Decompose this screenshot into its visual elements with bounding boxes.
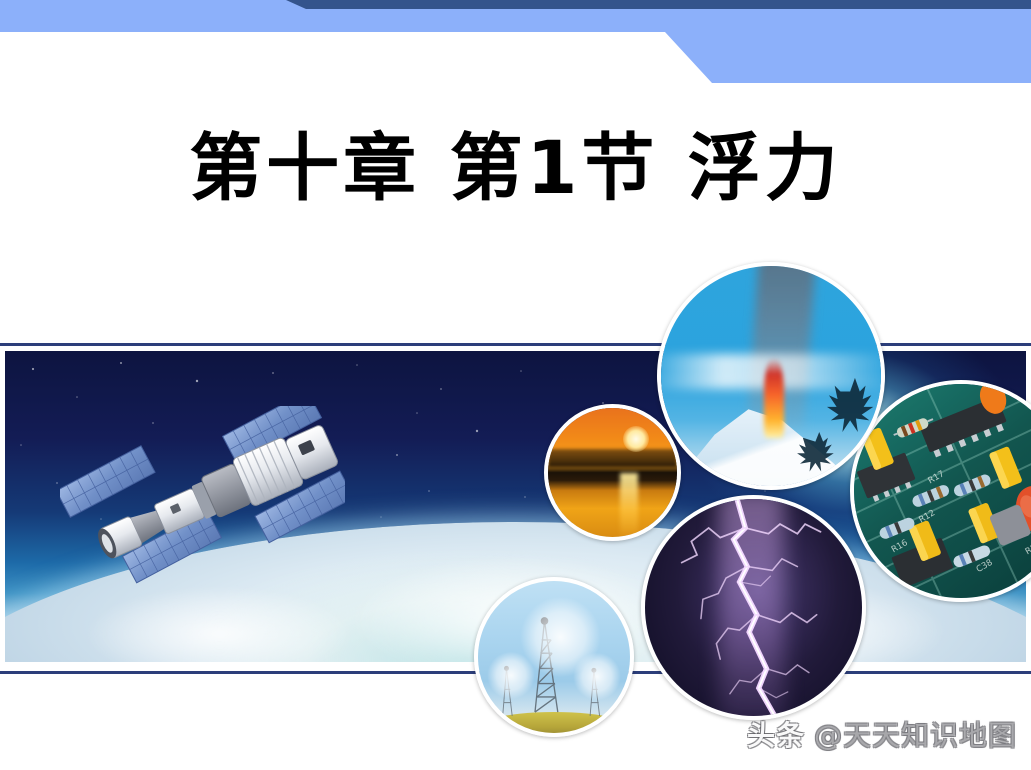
volcano-tree-silhouettes (661, 266, 881, 486)
sunset-shoreline (548, 449, 677, 467)
circle-photo-sunset (544, 404, 681, 541)
page-title-container: 第十章 第1节 浮力 (0, 128, 1031, 210)
svg-text:C38: C38 (975, 558, 995, 575)
circle-photo-wind-turbines (474, 577, 634, 737)
banner-dark-navy-shape (286, 0, 1031, 9)
watermark: 头条 @天天知识地图 (747, 714, 1017, 754)
lightning-bolt (645, 499, 862, 716)
sunset-water-reflection (620, 473, 638, 538)
watermark-handle: @天天知识地图 (814, 714, 1017, 754)
banner-shapes (0, 0, 1031, 95)
turbine-rotor-blur (486, 651, 536, 700)
svg-text:R24: R24 (1024, 540, 1031, 557)
sunset-sun-disc (623, 426, 649, 452)
banner-light-blue-shape (0, 0, 1031, 83)
sunset-sky (548, 408, 677, 537)
watermark-logo: 头条 (747, 714, 805, 754)
top-decorative-banner (0, 0, 1031, 95)
slide-canvas: 第十章 第1节 浮力 (0, 0, 1031, 770)
page-title: 第十章 第1节 浮力 (189, 128, 842, 210)
space-station (60, 406, 345, 596)
circle-photo-volcano (657, 262, 885, 490)
